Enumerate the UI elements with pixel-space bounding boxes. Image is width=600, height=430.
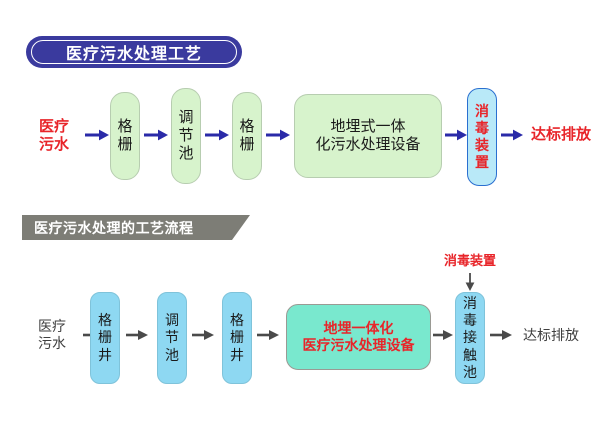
section2-node-equalization-tank-label: 调 节 池: [165, 312, 179, 363]
line: 地埋式一体: [315, 118, 420, 136]
section1-node-equalization-tank[interactable]: 调 节 池: [171, 88, 201, 184]
section2-callout-down-arrow: [462, 272, 478, 292]
section2-node-disinfection-contact-tank-label: 消 毒 接 触 池: [463, 295, 477, 380]
char: 池: [165, 347, 179, 364]
section1-arrow-5: [444, 126, 468, 144]
diagram-canvas: 医疗污水处理工艺 医疗 污水 格 栅 调 节 池 格 栅: [0, 0, 600, 430]
section1-node-disinfection-device-label: 消 毒 装 置: [475, 103, 489, 171]
char: 消: [463, 295, 477, 312]
char: 装: [475, 137, 489, 154]
char: 节: [165, 329, 179, 346]
char: 栅: [98, 329, 112, 346]
char: 栅: [230, 329, 244, 346]
section2-arrow-6: [489, 326, 513, 344]
section2-node-buried-equipment[interactable]: 地埋一体化 医疗污水处理设备: [286, 304, 431, 370]
char: 调: [178, 109, 193, 127]
char: 栅: [239, 136, 254, 154]
char: 池: [178, 145, 193, 163]
char: 格: [239, 118, 254, 136]
section2-inlet-line2: 污水: [38, 335, 66, 352]
line: 地埋一体化: [303, 320, 415, 337]
section2-node-equalization-tank[interactable]: 调 节 池: [157, 292, 187, 384]
section2-node-buried-equipment-label: 地埋一体化 医疗污水处理设备: [303, 320, 415, 353]
section1-inlet-line2: 污水: [39, 136, 69, 154]
section1-node-equalization-tank-label: 调 节 池: [178, 109, 193, 164]
section1-arrow-4: [265, 126, 291, 144]
char: 毒: [463, 312, 477, 329]
section2-node-grid-well-1[interactable]: 格 栅 井: [90, 292, 120, 384]
char: 格: [98, 312, 112, 329]
char: 调: [165, 312, 179, 329]
char: 井: [98, 347, 112, 364]
section1-outlet-label: 达标排放: [526, 122, 596, 148]
char: 消: [475, 103, 489, 120]
section1-node-grid-2[interactable]: 格 栅: [232, 92, 262, 180]
section1-arrow-3: [204, 126, 230, 144]
section1-arrow-1: [84, 126, 110, 144]
section1-node-grid-1[interactable]: 格 栅: [110, 92, 140, 180]
section2-outlet-label: 达标排放: [516, 323, 586, 347]
section1-title-banner: 医疗污水处理工艺: [26, 36, 242, 68]
char: 接: [463, 329, 477, 346]
section2-arrow-2: [125, 326, 149, 344]
char: 触: [463, 347, 477, 364]
char: 节: [178, 127, 193, 145]
section2-title-text: 医疗污水处理的工艺流程: [34, 215, 194, 240]
section1-arrow-6: [500, 126, 524, 144]
section2-arrow-3: [191, 326, 215, 344]
char: 毒: [475, 120, 489, 137]
line: 化污水处理设备: [315, 136, 420, 154]
section1-node-grid-1-label: 格 栅: [117, 118, 132, 155]
char: 栅: [117, 136, 132, 154]
section2-node-grid-well-2[interactable]: 格 栅 井: [222, 292, 252, 384]
section2-node-grid-well-1-label: 格 栅 井: [98, 312, 112, 363]
section2-arrow-5: [432, 326, 454, 344]
char: 池: [463, 364, 477, 381]
section1-node-grid-2-label: 格 栅: [239, 118, 254, 155]
section1-inlet-label: 医疗 污水: [26, 113, 82, 159]
section2-node-grid-well-2-label: 格 栅 井: [230, 312, 244, 363]
line: 医疗污水处理设备: [303, 337, 415, 354]
section2-title-banner: 医疗污水处理的工艺流程: [22, 215, 250, 240]
char: 置: [475, 154, 489, 171]
section2-inlet-line1: 医疗: [38, 318, 66, 335]
char: 格: [230, 312, 244, 329]
section1-inlet-line1: 医疗: [39, 118, 69, 136]
section2-inlet-label: 医疗 污水: [24, 314, 80, 356]
section2-arrow-4: [256, 326, 280, 344]
section1-title-text: 医疗污水处理工艺: [26, 36, 242, 68]
section2-disinfection-callout-label: 消毒装置: [430, 252, 510, 270]
char: 井: [230, 347, 244, 364]
section1-arrow-2: [143, 126, 169, 144]
section1-node-disinfection-device[interactable]: 消 毒 装 置: [467, 88, 497, 186]
section1-node-buried-equipment-label: 地埋式一体 化污水处理设备: [315, 118, 420, 153]
char: 格: [117, 118, 132, 136]
section1-node-buried-equipment[interactable]: 地埋式一体 化污水处理设备: [294, 94, 442, 178]
section2-node-disinfection-contact-tank[interactable]: 消 毒 接 触 池: [455, 292, 485, 384]
